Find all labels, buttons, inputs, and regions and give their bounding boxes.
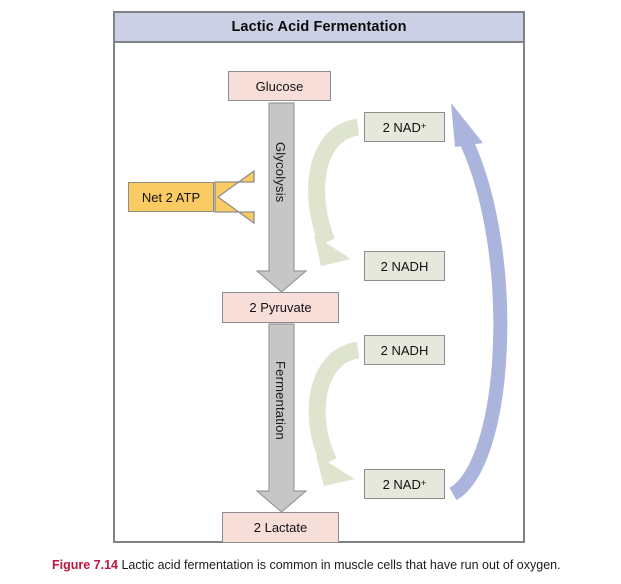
- atp-yield-arrow: [215, 171, 254, 223]
- node-pyruvate-label: 2 Pyruvate: [249, 300, 311, 315]
- process-label-fermentation: Fermentation: [273, 361, 288, 440]
- figure-panel: Lactic Acid Fermentation Glucose Net: [113, 11, 525, 543]
- nadh-to-nad-arrowhead: [316, 455, 355, 486]
- node-nad-plus-top-label: 2 NAD: [383, 120, 421, 135]
- node-nadh-lower: 2 NADH: [364, 335, 445, 365]
- node-net-atp-label: Net 2 ATP: [142, 190, 200, 205]
- node-nad-plus-bottom: 2 NAD+: [364, 469, 445, 499]
- figure-caption-number: Figure 7.14: [52, 558, 118, 572]
- node-net-atp: Net 2 ATP: [128, 182, 214, 212]
- nad-to-nadh-curve: [317, 127, 358, 242]
- process-label-glycolysis: Glycolysis: [273, 142, 288, 203]
- panel-title: Lactic Acid Fermentation: [231, 19, 406, 35]
- node-nadh-upper: 2 NADH: [364, 251, 445, 281]
- node-nad-plus-top: 2 NAD+: [364, 112, 445, 142]
- figure-caption: Figure 7.14 Lactic acid fermentation is …: [52, 557, 612, 573]
- node-glucose-label: Glucose: [256, 79, 304, 94]
- node-pyruvate: 2 Pyruvate: [222, 292, 339, 323]
- nad-recycle-arrowhead: [451, 103, 483, 147]
- diagram-canvas: Glucose Net 2 ATP 2 Pyruvate 2 Lactate 2…: [115, 43, 523, 541]
- node-nad-plus-bottom-label: 2 NAD: [383, 477, 421, 492]
- nad-recycle-arc: [453, 143, 500, 494]
- node-lactate-label: 2 Lactate: [254, 520, 308, 535]
- node-glucose: Glucose: [228, 71, 331, 101]
- node-lactate: 2 Lactate: [222, 512, 339, 543]
- node-nadh-upper-label: 2 NADH: [381, 259, 429, 274]
- node-nadh-lower-label: 2 NADH: [381, 343, 429, 358]
- figure-caption-text: Lactic acid fermentation is common in mu…: [118, 558, 561, 572]
- panel-header: Lactic Acid Fermentation: [113, 11, 525, 43]
- nadh-to-nad-curve: [317, 350, 358, 462]
